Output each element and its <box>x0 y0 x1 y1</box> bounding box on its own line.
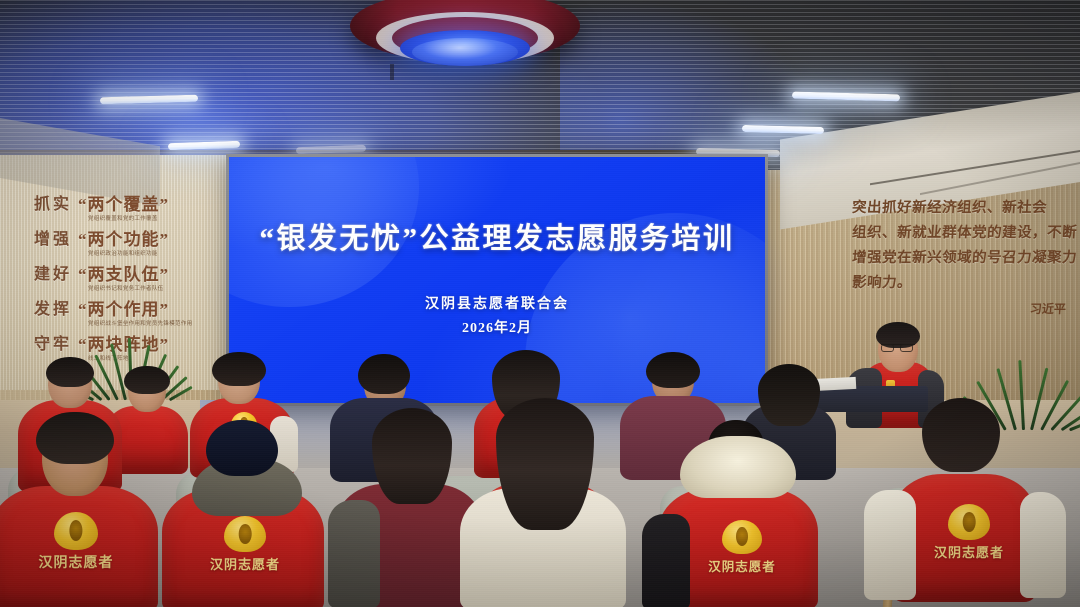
slogan-quote: “两个覆盖” <box>78 190 169 215</box>
audience-white-sleeve <box>864 490 916 600</box>
speaker-glasses-lens-right <box>900 344 913 352</box>
audience-hair <box>646 352 700 388</box>
audience-hair-long <box>372 408 452 504</box>
meeting-room-photo: 抓实 “两个覆盖” 党组织覆盖和党的工作覆盖 增强 “两个功能” 党组织政治功能… <box>0 0 1080 607</box>
volunteer-vest <box>0 486 158 607</box>
audience-member-front: 汉阴志愿者 <box>646 418 830 607</box>
audience-hair <box>922 398 1000 472</box>
slide-organization: 汉阴县志愿者联合会 <box>229 293 765 313</box>
round-dome-ceiling-lamp <box>350 0 580 85</box>
slogan-subtext: 党组织政治功能和组织功能 <box>88 249 169 257</box>
slogan-verb: 守牢 <box>34 330 72 354</box>
audience-hair <box>46 357 94 387</box>
slogan-row: 抓实 “两个覆盖” 党组织覆盖和党的工作覆盖 <box>34 190 234 222</box>
ceiling-blue-reflection-secondary <box>560 0 890 150</box>
slogan-row: 发挥 “两个作用” 党组织战斗堡垒作用和党员先锋模范作用 <box>34 295 234 327</box>
audience-hair <box>124 366 170 394</box>
speaker-glasses-lens-left <box>881 344 894 352</box>
audience-hair <box>206 420 278 476</box>
audience-member-front <box>452 406 632 607</box>
audience-fur-hood <box>680 436 796 498</box>
audience-hair <box>358 354 410 394</box>
dome-glass-cover <box>412 38 518 66</box>
slogan-subtext: 党组织覆盖和党的工作覆盖 <box>88 214 169 222</box>
slogan-subtext: 党组织战斗堡垒作用和党员先锋模范作用 <box>88 319 192 327</box>
quote-attribution: 习近平 <box>851 300 1080 317</box>
slide-date: 2026年2月 <box>229 317 765 337</box>
slogan-quote: “两支队伍” <box>78 260 169 285</box>
quote-line: 突出抓好新经济组织、新社会 <box>851 196 1080 221</box>
dome-mount-stem <box>390 64 394 80</box>
audience-hair-long <box>758 364 820 426</box>
slogan-subtext: 党组织书记和党务工作者队伍 <box>88 284 169 292</box>
slogan-quote: “两个功能” <box>78 225 169 250</box>
slogan-verb: 建好 <box>34 260 72 284</box>
audience-gray-sleeve <box>328 500 380 607</box>
quote-line: 增强党在新兴领域的号召力凝聚力 <box>851 246 1080 271</box>
slogan-verb: 增强 <box>34 225 72 249</box>
slogan-row: 增强 “两个功能” 党组织政治功能和组织功能 <box>34 225 234 257</box>
audience-hair-long <box>496 398 594 530</box>
slide-title: “银发无忧”公益理发志愿服务培训 <box>229 215 765 257</box>
slogan-verb: 发挥 <box>34 295 72 319</box>
audience-black-sleeve <box>642 514 690 607</box>
quote-line: 组织、新就业群体党的建设，不断 <box>851 221 1080 246</box>
audience-member-front: 汉阴志愿者 <box>152 424 334 607</box>
audience-white-sleeve-right <box>1020 492 1066 598</box>
slogan-quote: “两个作用” <box>78 295 192 320</box>
slogan-verb: 抓实 <box>34 190 72 214</box>
slogan-row: 建好 “两支队伍” 党组织书记和党务工作者队伍 <box>34 260 234 292</box>
audience-hair <box>212 352 266 386</box>
audience-member-front: 汉阴志愿者 <box>870 404 1060 607</box>
quote-line: 影响力。 <box>851 271 1080 296</box>
audience-member-front: 汉阴志愿者 <box>0 420 166 607</box>
right-wall-quote-block: 突出抓好新经济组织、新社会 组织、新就业群体党的建设，不断 增强党在新兴领域的号… <box>852 196 1080 317</box>
audience-hair <box>36 412 114 464</box>
